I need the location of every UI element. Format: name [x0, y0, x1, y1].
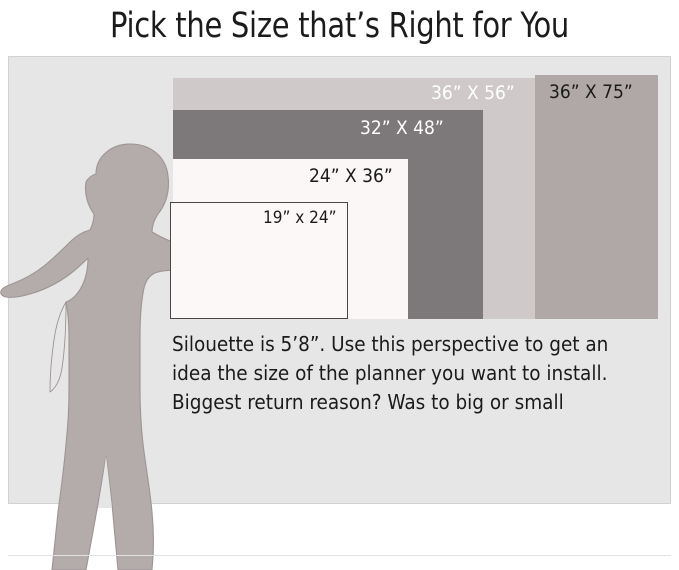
size-label-36x75: 36” X 75” [549, 81, 633, 103]
page-title: Pick the Size that’s Right for You [110, 6, 569, 46]
description-line-2: idea the size of the planner you want to… [172, 359, 662, 388]
description-text: Silouette is 5’8”. Use this perspective … [172, 330, 662, 417]
description-line-1: Silouette is 5’8”. Use this perspective … [172, 330, 662, 359]
size-comparison-infographic: Pick the Size that’s Right for You 36” X… [0, 0, 679, 570]
size-label-19x24: 19” x 24” [263, 208, 337, 228]
size-panel-36x75 [535, 75, 658, 319]
size-label-32x48: 32” X 48” [360, 117, 444, 139]
size-label-24x36: 24” X 36” [309, 165, 393, 187]
description-line-3: Biggest return reason? Was to big or sma… [172, 388, 662, 417]
size-label-36x56: 36” X 56” [431, 82, 515, 104]
baseline-rule [8, 555, 671, 556]
title-bar: Pick the Size that’s Right for You [0, 0, 679, 52]
